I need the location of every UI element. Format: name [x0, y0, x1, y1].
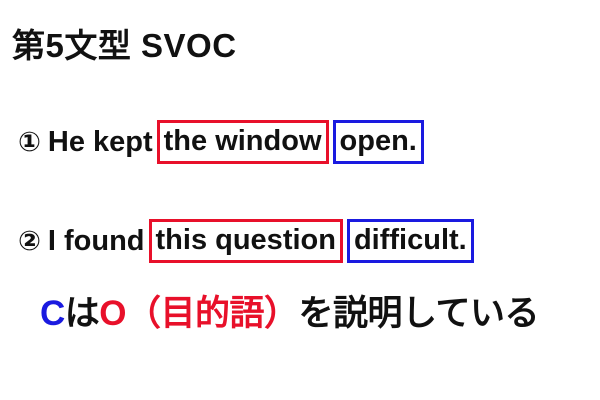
explanation-o-label: O	[99, 294, 126, 333]
object-box-2: this question	[149, 219, 343, 263]
slide-canvas: 第5文型 SVOC ① He kept the window open. ② I…	[0, 0, 600, 400]
explanation-predicate: を説明している	[299, 294, 539, 333]
complement-box-2: difficult.	[347, 219, 474, 263]
example-marker-2: ②	[18, 228, 48, 255]
complement-box-1: open.	[333, 120, 424, 164]
subject-verb-2: I found	[48, 222, 145, 261]
object-box-1: the window	[157, 120, 329, 164]
example-sentence-2: ② I found this question difficult.	[18, 219, 474, 263]
example-sentence-1: ① He kept the window open.	[18, 120, 424, 164]
explanation-particle-wa: は	[65, 294, 100, 333]
page-title: 第5文型 SVOC	[12, 27, 237, 65]
explanation-line: CはO（目的語）を説明している	[40, 293, 539, 335]
explanation-o-gloss: （目的語）	[126, 294, 299, 333]
example-marker-1: ①	[18, 129, 48, 156]
explanation-c-label: C	[40, 294, 65, 333]
subject-verb-1: He kept	[48, 123, 153, 162]
